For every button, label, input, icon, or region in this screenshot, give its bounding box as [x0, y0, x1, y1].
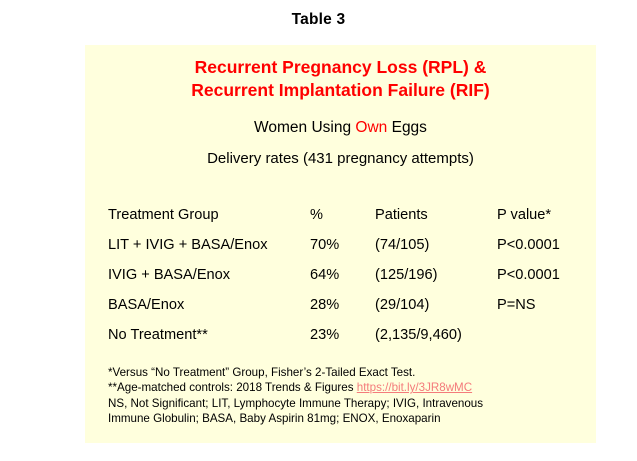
cell-treatment-group: No Treatment** — [108, 320, 310, 350]
footnote-line-4: Immune Globulin; BASA, Baby Aspirin 81mg… — [108, 411, 584, 426]
table-row: LIT + IVIG + BASA/Enox 70% (74/105) P<0.… — [108, 230, 578, 260]
footnote-line-2-text: **Age-matched controls: 2018 Trends & Fi… — [108, 381, 357, 394]
cell-treatment-group: BASA/Enox — [108, 290, 310, 320]
cell-patients: (125/196) — [375, 260, 497, 290]
footnote-line-1: *Versus “No Treatment” Group, Fisher’s 2… — [108, 365, 584, 380]
cell-patients: (29/104) — [375, 290, 497, 320]
table-header-row: Treatment Group % Patients P value* — [108, 200, 578, 230]
results-table: Treatment Group % Patients P value* LIT … — [108, 200, 578, 350]
panel-subtitle-delivery-rates: Delivery rates (431 pregnancy attempts) — [85, 150, 596, 167]
column-header-percent: % — [310, 200, 375, 230]
subtitle-highlight-own: Own — [355, 119, 387, 136]
footnote-line-3: NS, Not Significant; LIT, Lymphocyte Imm… — [108, 396, 584, 411]
panel-title-line-2: Recurrent Implantation Failure (RIF) — [85, 79, 596, 102]
cell-patients: (2,135/9,460) — [375, 320, 497, 350]
panel-subtitle-eggs: Women Using Own Eggs — [85, 119, 596, 137]
cell-p-value: P<0.0001 — [497, 260, 578, 290]
subtitle-text-after: Eggs — [387, 119, 427, 136]
cell-p-value — [497, 320, 578, 350]
table-row: BASA/Enox 28% (29/104) P=NS — [108, 290, 578, 320]
footnotes: *Versus “No Treatment” Group, Fisher’s 2… — [108, 365, 584, 427]
panel-title: Recurrent Pregnancy Loss (RPL) & Recurre… — [85, 56, 596, 102]
table-row: IVIG + BASA/Enox 64% (125/196) P<0.0001 — [108, 260, 578, 290]
page-title: Table 3 — [0, 11, 637, 29]
footnote-line-2: **Age-matched controls: 2018 Trends & Fi… — [108, 380, 584, 395]
slide-canvas: Table 3 Recurrent Pregnancy Loss (RPL) &… — [0, 0, 637, 461]
column-header-treatment-group: Treatment Group — [108, 200, 310, 230]
cell-treatment-group: LIT + IVIG + BASA/Enox — [108, 230, 310, 260]
column-header-patients: Patients — [375, 200, 497, 230]
cell-p-value: P=NS — [497, 290, 578, 320]
table-panel: Recurrent Pregnancy Loss (RPL) & Recurre… — [85, 45, 596, 443]
cell-percent: 70% — [310, 230, 375, 260]
cell-percent: 28% — [310, 290, 375, 320]
footnote-source-link[interactable]: https://bit.ly/3JR8wMC — [357, 381, 472, 394]
cell-percent: 64% — [310, 260, 375, 290]
panel-title-line-1: Recurrent Pregnancy Loss (RPL) & — [85, 56, 596, 79]
cell-p-value: P<0.0001 — [497, 230, 578, 260]
table-row: No Treatment** 23% (2,135/9,460) — [108, 320, 578, 350]
cell-treatment-group: IVIG + BASA/Enox — [108, 260, 310, 290]
cell-percent: 23% — [310, 320, 375, 350]
subtitle-text-before: Women Using — [254, 119, 355, 136]
cell-patients: (74/105) — [375, 230, 497, 260]
column-header-p-value: P value* — [497, 200, 578, 230]
